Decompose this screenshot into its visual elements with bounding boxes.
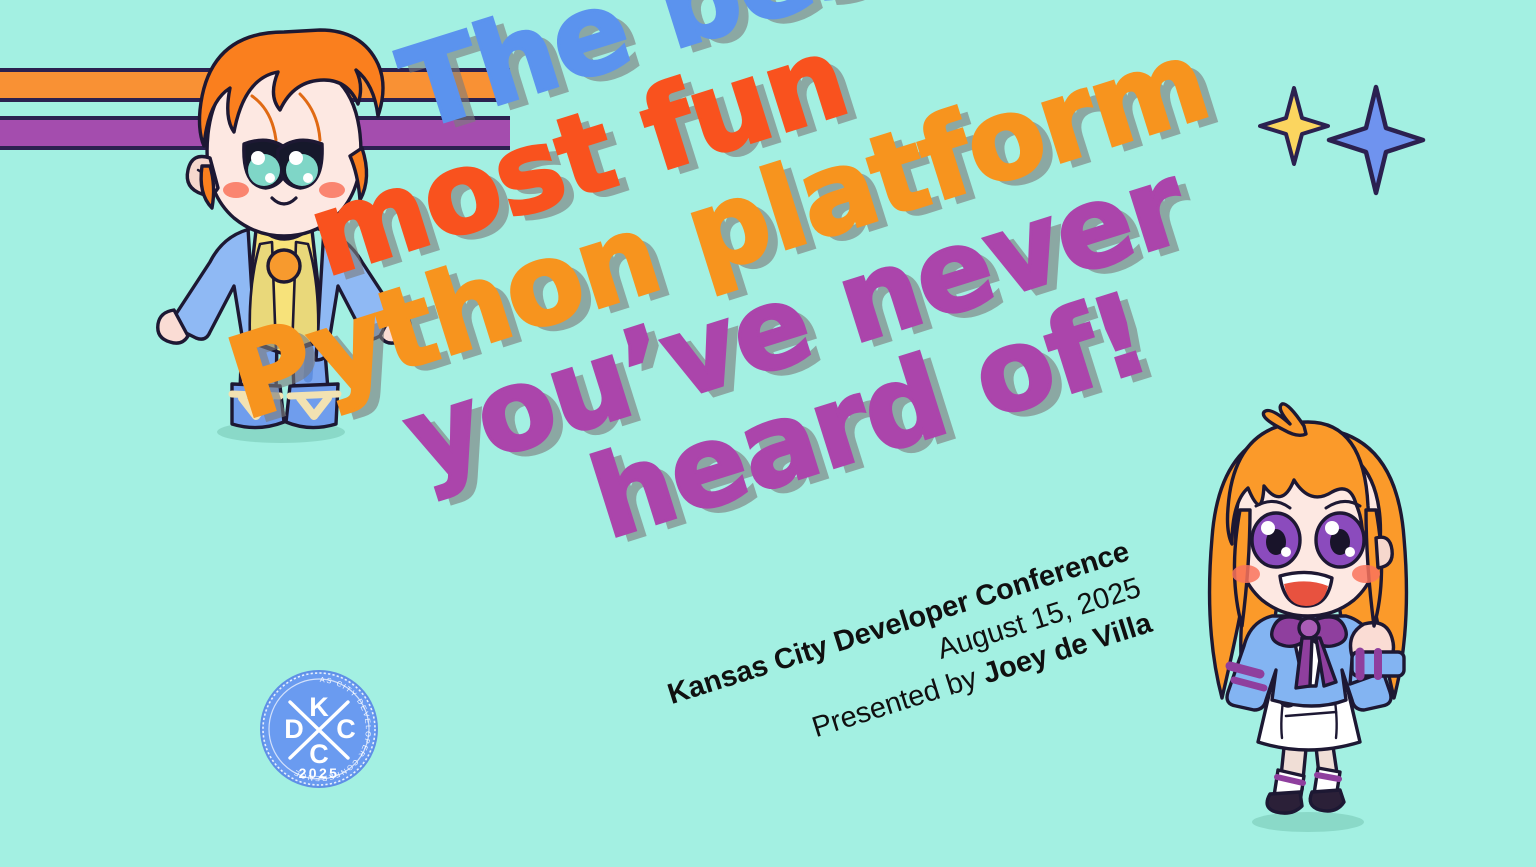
svg-text:D: D	[284, 714, 304, 744]
chibi-character-girl	[1168, 398, 1448, 838]
presentation-slide: The best most fun Python platform you’ve…	[0, 0, 1536, 867]
chibi-character-boy	[148, 18, 418, 448]
sparkle-star-blue-icon	[1326, 84, 1426, 201]
svg-text:K: K	[309, 692, 329, 722]
sparkle-star-yellow-icon	[1258, 86, 1330, 171]
headline-line-1: The best	[390, 0, 1365, 147]
subtitle-block: Kansas City Developer Conference August …	[627, 534, 1157, 798]
svg-text:C: C	[336, 714, 356, 744]
svg-text:2025: 2025	[299, 765, 340, 781]
kcdc-logo: KANSAS CITY DEVELOPER CONFERENCE K D C C…	[258, 668, 380, 790]
